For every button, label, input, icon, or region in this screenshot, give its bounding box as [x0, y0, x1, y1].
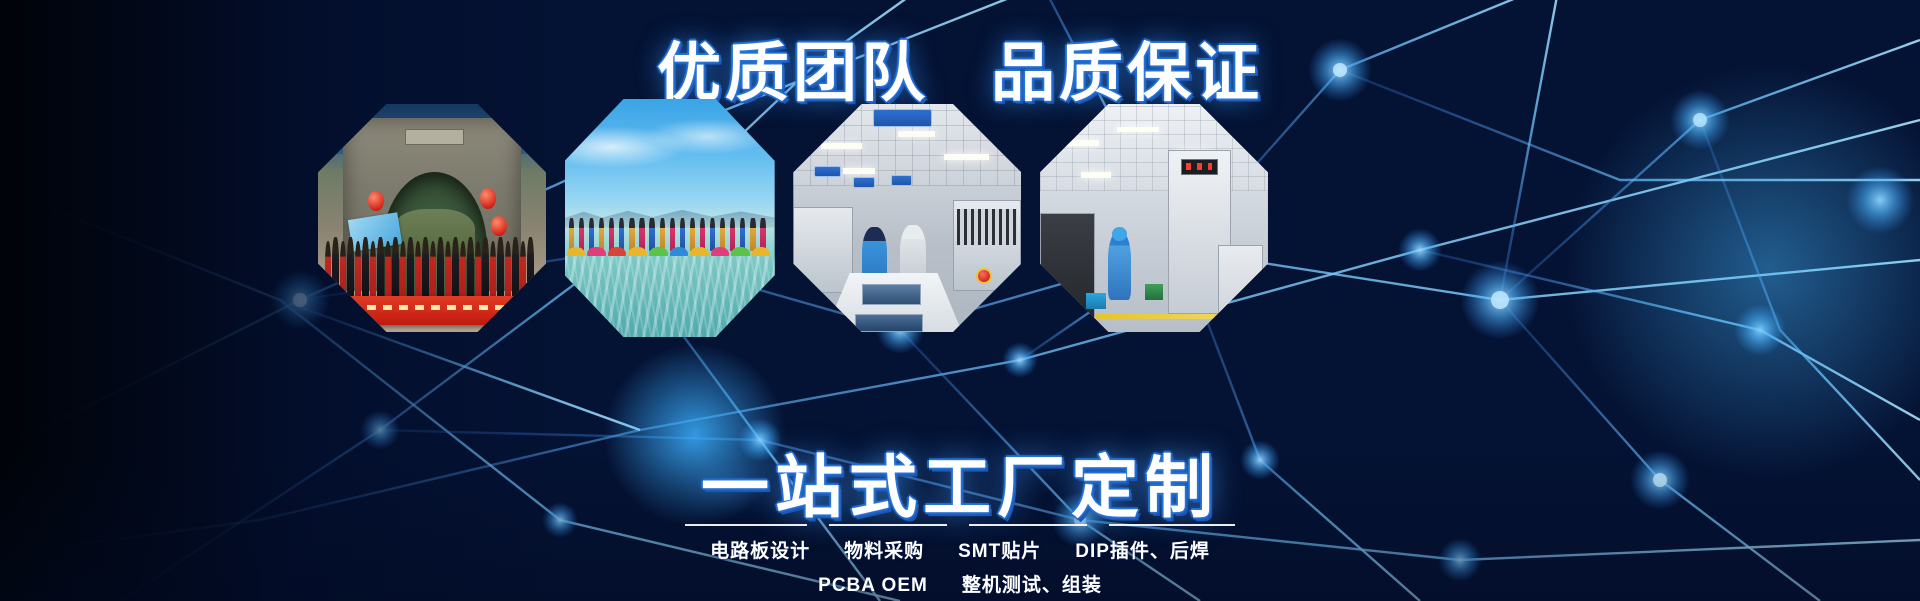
photo-team-outing-archway [318, 104, 546, 332]
inspection-panel [862, 284, 921, 305]
workstation-sign [891, 175, 912, 186]
blue-bin [1086, 293, 1107, 309]
photo-gallery [318, 99, 1268, 337]
smt-machine [793, 207, 852, 294]
workstation-sign [814, 166, 841, 177]
service-item-pcb-design: 电路板设计 [710, 541, 810, 562]
ceiling-light [1117, 127, 1158, 132]
subheadline: 一站式工厂定制 [0, 432, 1920, 531]
divider-line [829, 524, 947, 526]
floor-safety-line [1093, 314, 1223, 319]
ceiling-light [944, 154, 990, 160]
worker-blue-coat [1108, 232, 1131, 300]
service-item-testing-assembly: 整机测试、组装 [962, 575, 1102, 596]
ceiling-light [843, 168, 875, 174]
sea-water [565, 256, 775, 337]
service-item-pcba-oem: PCBA OEM [818, 575, 928, 596]
red-lantern [368, 191, 384, 212]
ceiling-light [1063, 140, 1099, 145]
workstation-sign [873, 109, 932, 127]
service-item-smt: SMT贴片 [958, 541, 1041, 562]
ceiling-light [821, 143, 862, 149]
component-feeders [957, 209, 1016, 245]
green-crate [1145, 284, 1163, 300]
digital-readout [1181, 159, 1217, 175]
clouds [565, 113, 775, 175]
inspection-panel [855, 314, 923, 332]
divider-group [0, 524, 1920, 526]
service-item-dip-soldering: DIP插件、后焊 [1075, 541, 1210, 562]
group-photo-crowd [325, 232, 539, 300]
divider-line [969, 524, 1087, 526]
service-list-row-1: 电路板设计物料采购SMT贴片DIP插件、后焊 [0, 536, 1920, 563]
divider-line [1109, 524, 1235, 526]
ceiling-grid [1040, 104, 1268, 191]
workstation-sign [853, 177, 876, 188]
photo-smt-production-line [793, 104, 1021, 332]
red-event-banner [323, 296, 535, 326]
service-item-material-sourcing: 物料采购 [844, 541, 924, 562]
photo-assembly-workshop [1040, 104, 1268, 332]
emergency-stop-button [976, 268, 992, 284]
red-lantern [480, 188, 496, 209]
divider-line [685, 524, 807, 526]
ceiling-light [1081, 172, 1111, 177]
promo-banner: 优质团队品质保证 [0, 0, 1920, 601]
photo-team-kayaking-sea [565, 99, 775, 337]
ceiling-light [898, 131, 934, 137]
control-cabinet [1218, 245, 1264, 327]
service-list-row-2: PCBA OEM整机测试、组装 [0, 570, 1920, 597]
gateway-plaque [405, 129, 464, 145]
